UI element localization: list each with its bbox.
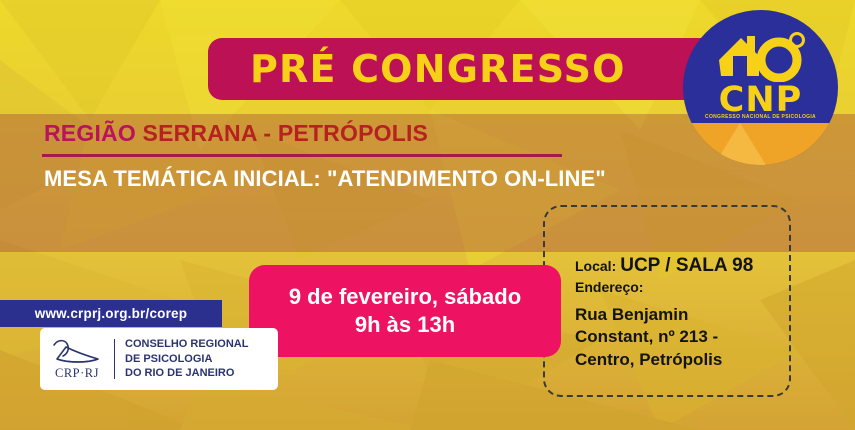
local-label: Local: [575,258,616,274]
org-line: DE PSICOLOGIA [125,352,248,367]
address-line: Constant, nº 213 - [575,326,785,348]
event-date: 9 de fevereiro, sábado [289,283,521,311]
cnp-logo: CNP CONGRESSO NACIONAL DE PSICOLOGIA [683,10,838,165]
crp-rj-logo-card: CRP·RJ CONSELHO REGIONAL DE PSICOLOGIA D… [40,328,278,390]
org-line: CONSELHO REGIONAL [125,337,248,352]
website-url-bar[interactable]: www.crprj.org.br/corep [0,300,222,327]
address-line: Rua Benjamin [575,304,785,326]
org-line: DO RIO DE JANEIRO [125,366,248,381]
date-time-box: 9 de fevereiro, sábado 9h às 13h [249,265,561,357]
region-prefix: REGIÃO [44,120,136,146]
address-line: Centro, Petrópolis [575,349,785,371]
crp-rj-org-name: CONSELHO REGIONAL DE PSICOLOGIA DO RIO D… [115,337,248,381]
cnp-logo-bottom-wedge [683,123,838,165]
cnp-logo-numeral-10-house-icon [683,30,838,87]
theme-line: MESA TEMÁTICA INICIAL: "ATENDIMENTO ON-L… [44,166,606,192]
divider-rule [42,154,562,157]
event-time: 9h às 13h [355,311,455,339]
region-suffix: SERRANA - PETRÓPOLIS [136,120,428,146]
region-line: REGIÃO SERRANA - PETRÓPOLIS [44,120,428,147]
local-value: UCP / SALA 98 [620,255,753,276]
page-title: PRÉ CONGRESSO [208,47,626,91]
crp-rj-bird-icon: CRP·RJ [40,328,114,390]
cnp-logo-subtitle: CONGRESSO NACIONAL DE PSICOLOGIA [683,114,838,120]
crp-rj-mark-text: CRP·RJ [55,366,99,381]
event-banner: PRÉ CONGRESSO CNP CONGRESSO NACIONAL DE … [0,0,855,430]
venue-info-box: Local:UCP / SALA 98 Endereço: Rua Benjam… [543,205,791,397]
venue-local-row: Local:UCP / SALA 98 [575,255,785,277]
address-label: Endereço: [575,279,785,295]
website-url: www.crprj.org.br/corep [35,306,187,321]
